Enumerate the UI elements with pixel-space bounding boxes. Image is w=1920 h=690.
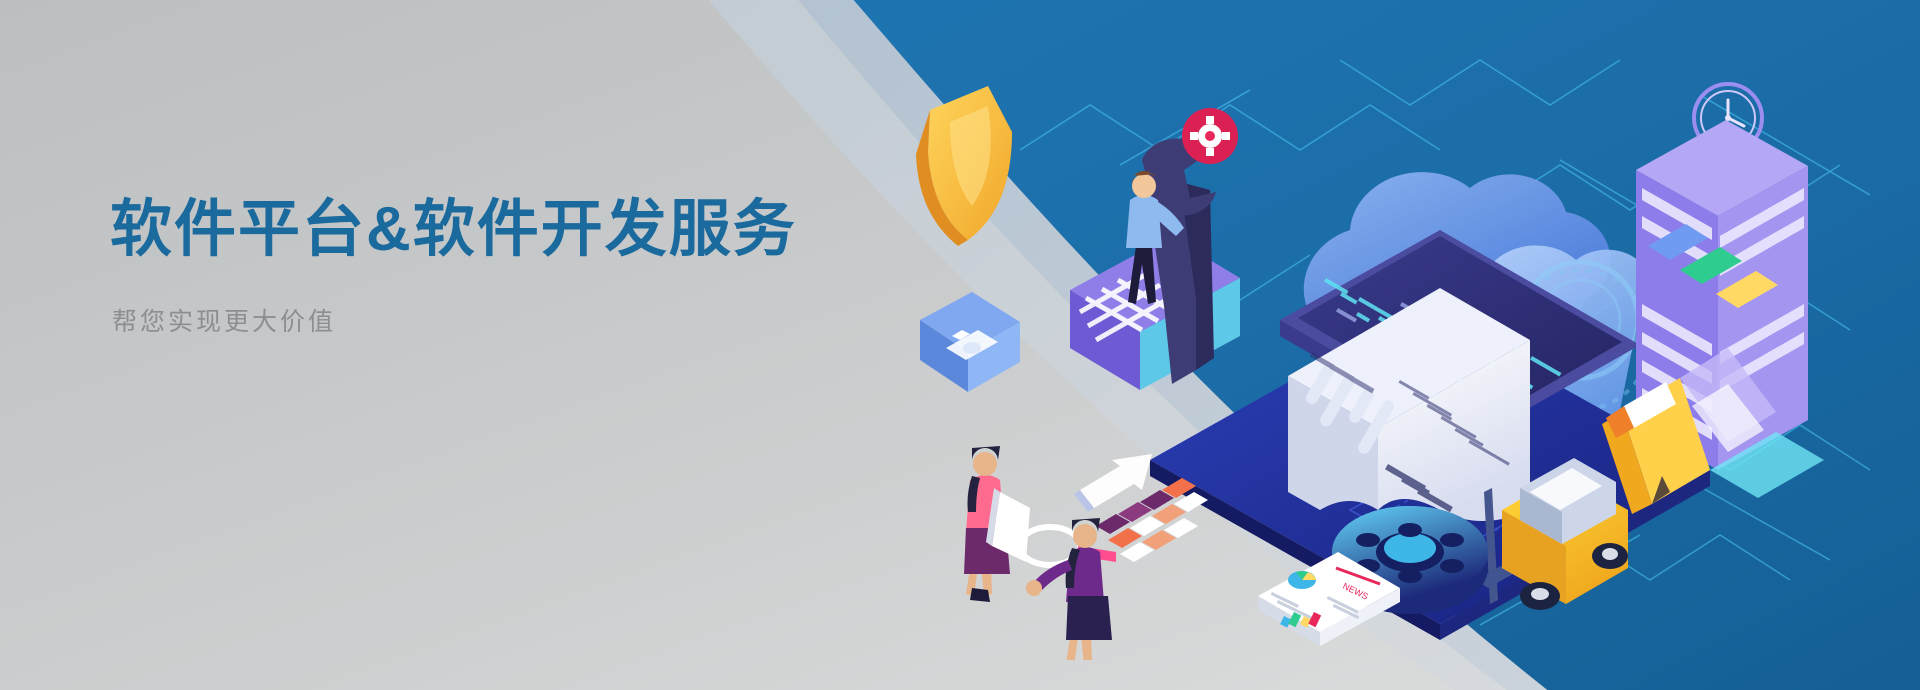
growth-arrow-icon xyxy=(1074,454,1152,512)
page-title: 软件平台&软件开发服务 xyxy=(110,196,797,264)
shield-icon xyxy=(916,86,1012,246)
camera-icon xyxy=(920,292,1020,392)
hero-banner: 软件平台&软件开发服务 帮您实现更大价值 xyxy=(0,0,1920,690)
banner-copy: 软件平台&软件开发服务 帮您实现更大价值 xyxy=(110,196,797,338)
page-subtitle: 帮您实现更大价值 xyxy=(112,302,797,338)
hero-illustration: NEWS xyxy=(880,40,1920,660)
checklist-panel xyxy=(1070,236,1240,390)
analyst-figure-purple xyxy=(1026,518,1112,660)
magnifier-icon xyxy=(1020,527,1116,565)
analyst-figure-pink xyxy=(964,446,1030,602)
gear-badge-icon xyxy=(1182,108,1238,164)
